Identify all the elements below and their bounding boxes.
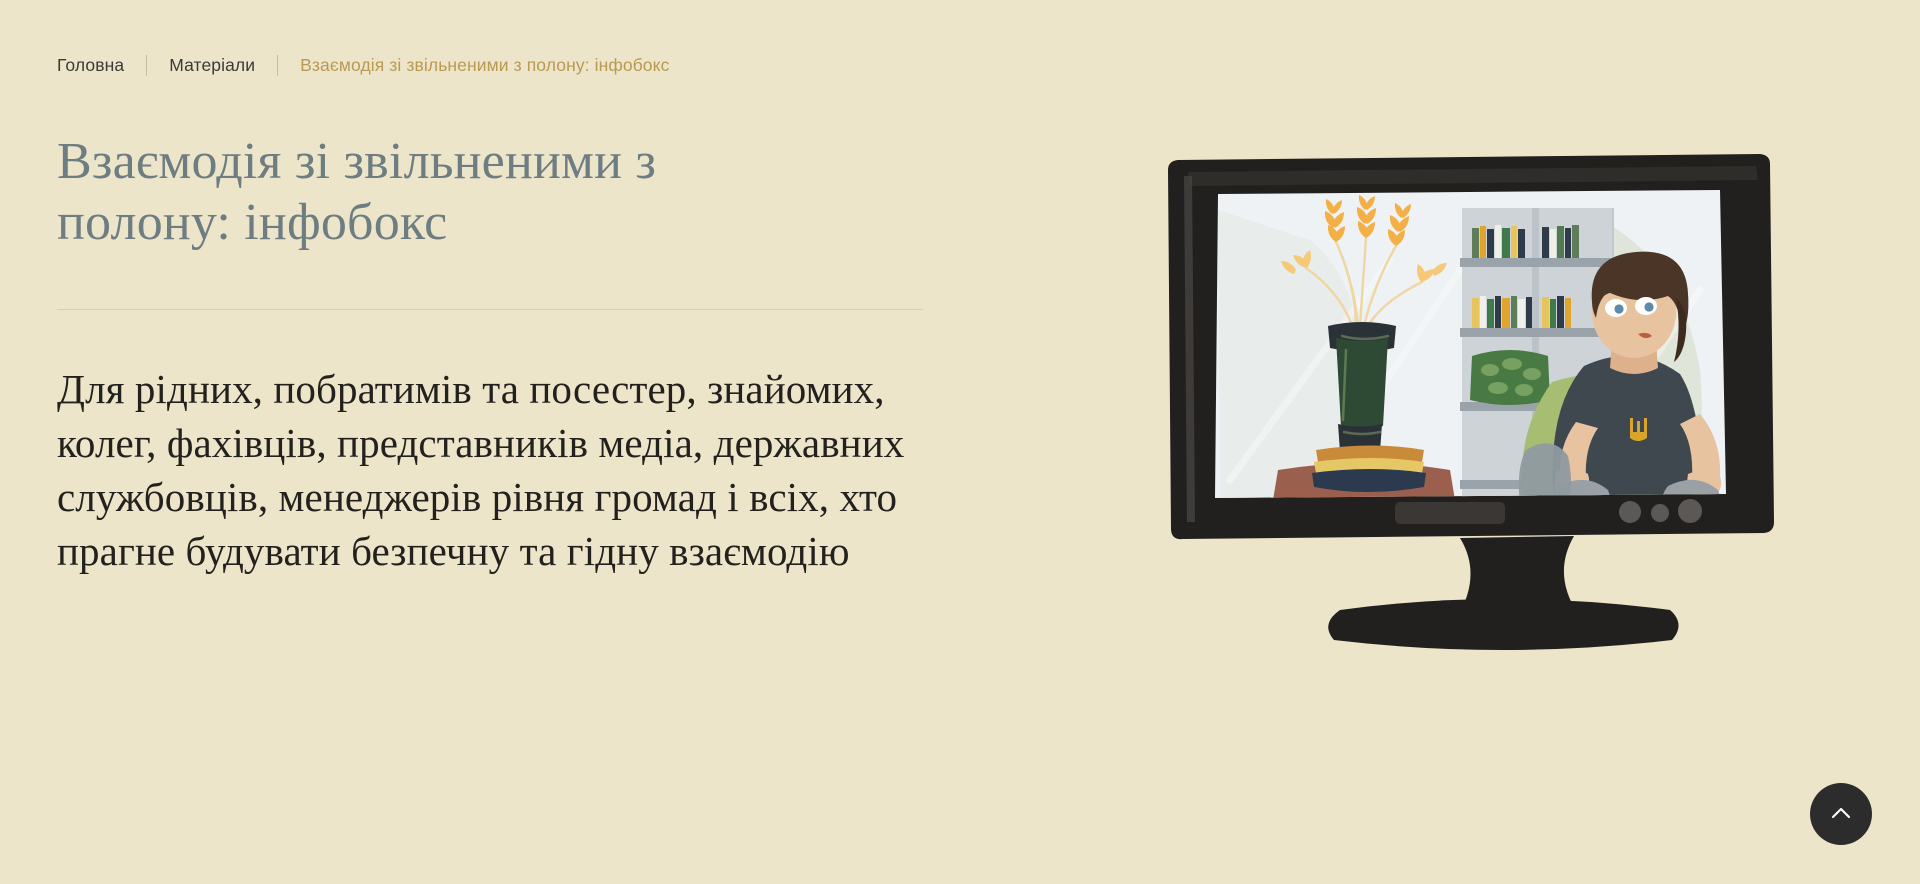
lead-paragraph: Для рідних, побратимів та посестер, знай… [57,310,957,578]
breadcrumb-separator [146,55,147,76]
breadcrumb: Головна Матеріали Взаємодія зі звільнени… [57,52,669,78]
breadcrumb-item-current: Взаємодія зі звільненими з полону: інфоб… [300,55,669,76]
tv-screen [1200,180,1740,522]
breadcrumb-separator [277,55,278,76]
tv-stand [1328,599,1678,650]
breadcrumb-item-materials[interactable]: Матеріали [169,55,255,76]
trident-emblem [1630,418,1647,441]
tv-with-veteran-illustration [1160,150,1840,710]
scroll-to-top-button[interactable] [1810,783,1872,845]
page-root: Головна Матеріали Взаємодія зі звільнени… [0,0,1920,884]
chevron-up-icon [1828,801,1854,827]
breadcrumb-item-home[interactable]: Головна [57,55,124,76]
tv-speaker-bar [1395,502,1505,524]
content-column: Взаємодія зі звільненими з полону: інфоб… [57,131,957,578]
page-title: Взаємодія зі звільненими з полону: інфоб… [57,131,797,254]
